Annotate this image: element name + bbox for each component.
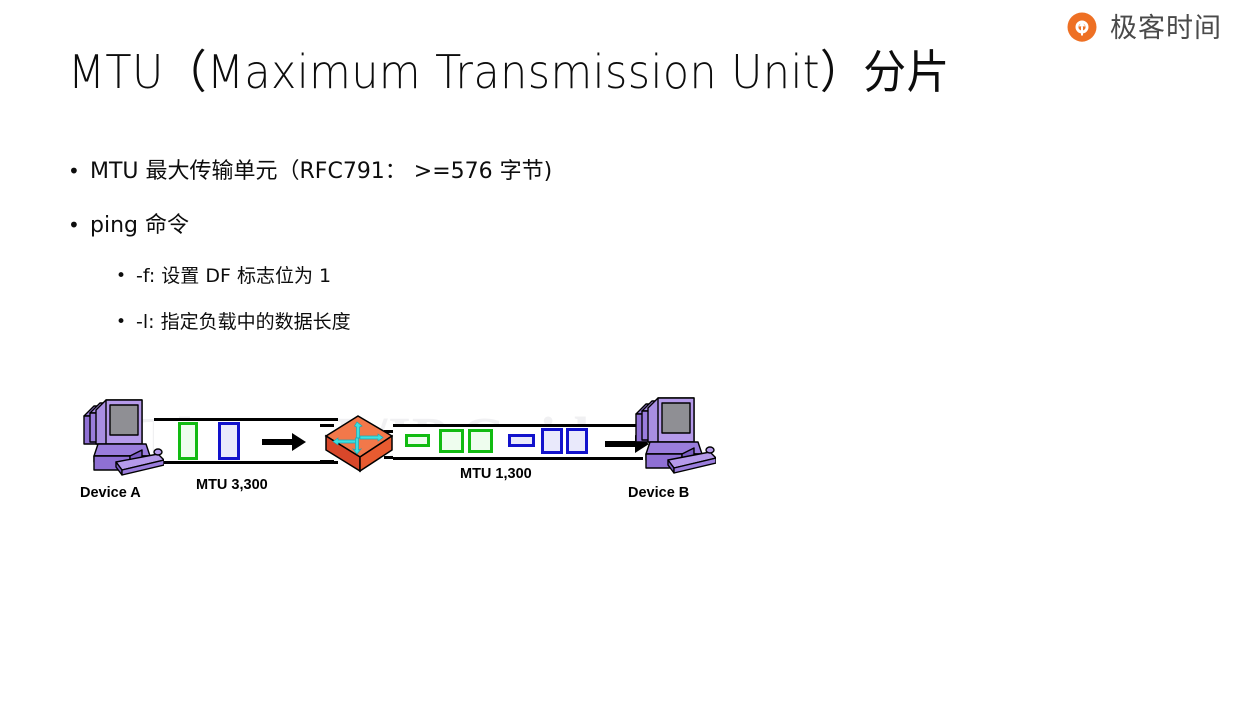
list-item: • MTU 最大传输单元（RFC791： >=576 字节) <box>68 158 968 186</box>
flow-arrow-left-icon <box>262 433 306 451</box>
mtu-left-label: MTU 3,300 <box>196 477 268 493</box>
page-title: MTU（Maximum Transmission Unit）分片 <box>68 36 950 102</box>
fragment-blue-1 <box>508 434 535 447</box>
list-item: • -f: 设置 DF 标志位为 1 <box>116 265 968 289</box>
mtu-fragmentation-diagram: The TCP/IP Guide <box>68 386 728 506</box>
fragment-blue-2 <box>541 428 563 454</box>
bullet-marker-icon: • <box>68 212 90 238</box>
device-a-label: Device A <box>80 485 141 501</box>
list-item-label: -l: 指定负载中的数据长度 <box>136 311 351 335</box>
brand-name: 极客时间 <box>1110 15 1222 44</box>
geektime-circle-icon <box>1063 10 1101 48</box>
list-item-label: MTU 最大传输单元（RFC791： >=576 字节) <box>90 158 552 186</box>
list-item: • -l: 指定负载中的数据长度 <box>116 311 968 335</box>
fragment-green-1 <box>405 434 430 447</box>
device-b-computer-icon <box>620 394 716 479</box>
packet-blue-large <box>218 422 240 460</box>
device-b-label: Device B <box>628 485 689 501</box>
device-a-computer-icon <box>68 396 164 481</box>
brand-logo: 极客时间 <box>1063 10 1222 48</box>
list-item-label: ping 命令 <box>90 212 189 240</box>
bullet-marker-icon: • <box>116 311 136 333</box>
list-item-label: -f: 设置 DF 标志位为 1 <box>136 265 331 289</box>
bullet-list: • MTU 最大传输单元（RFC791： >=576 字节) • ping 命令… <box>68 158 968 357</box>
packet-green-large <box>178 422 198 460</box>
bullet-marker-icon: • <box>116 265 136 287</box>
fragment-green-2 <box>439 429 464 453</box>
fragment-blue-3 <box>566 428 588 454</box>
router-icon <box>320 410 398 474</box>
list-item: • ping 命令 <box>68 212 968 240</box>
mtu-right-label: MTU 1,300 <box>460 466 532 482</box>
fragment-green-3 <box>468 429 493 453</box>
bullet-marker-icon: • <box>68 158 90 184</box>
